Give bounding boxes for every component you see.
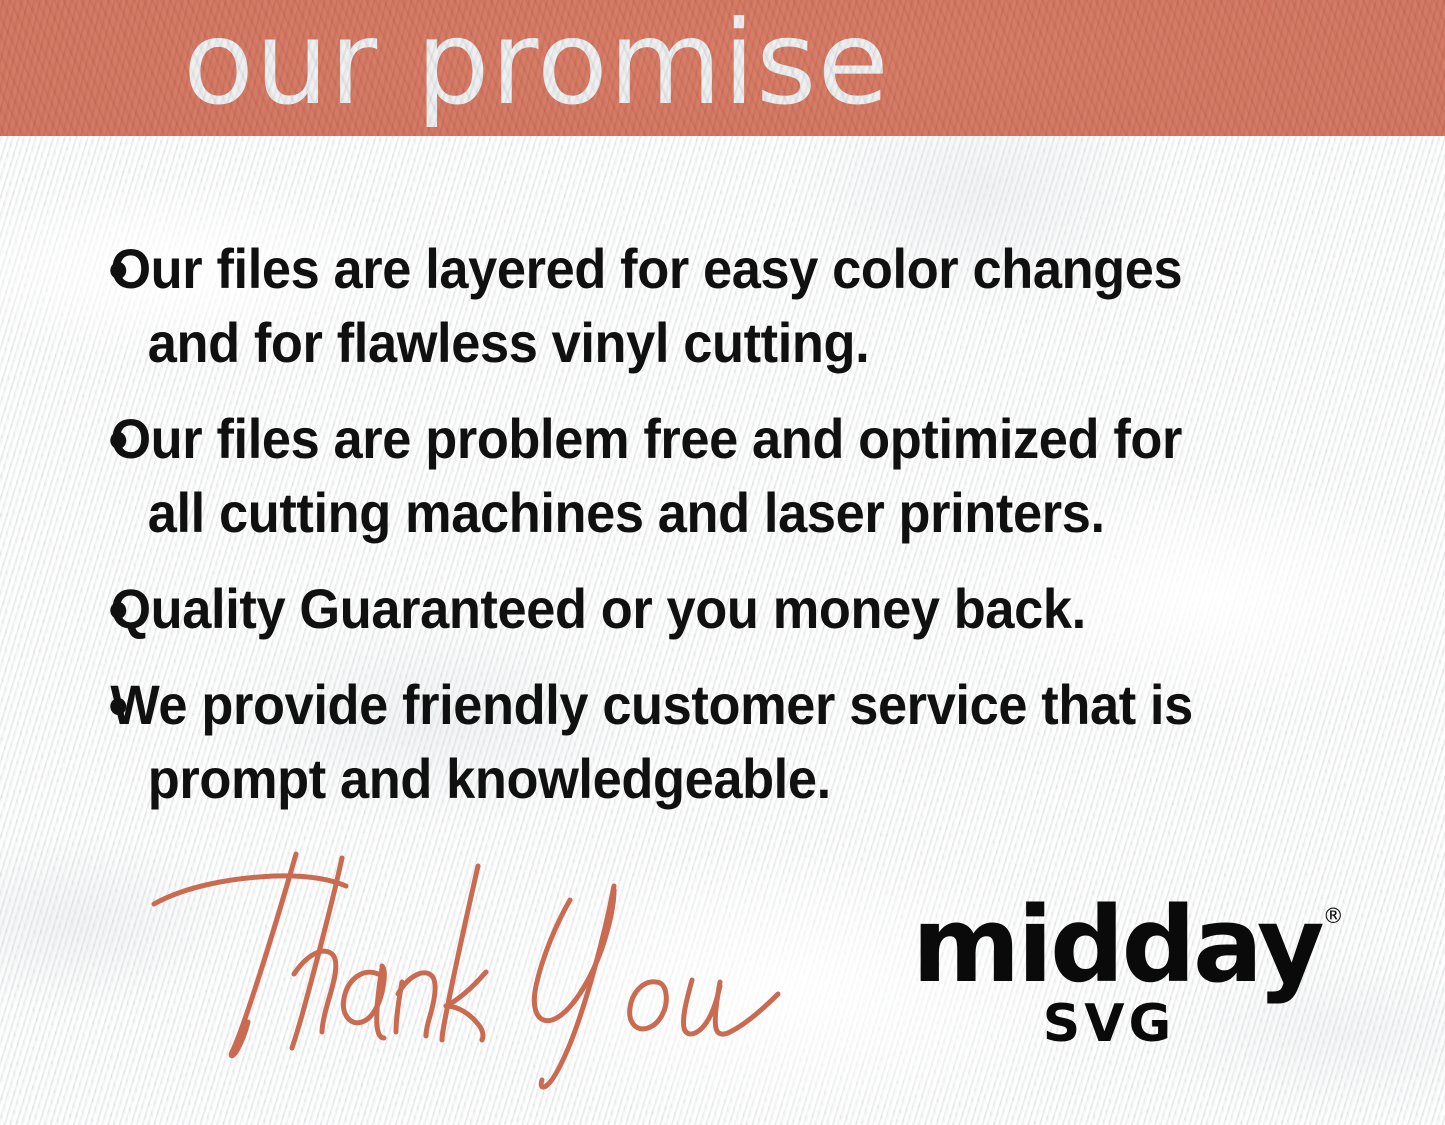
promise-line-text: prompt and knowledgeable.: [148, 747, 831, 810]
promise-line-text: Quality Guaranteed or you money back.: [110, 577, 1085, 640]
bullet-dot-icon: [110, 262, 126, 279]
bullet-dot-icon: [110, 698, 126, 715]
thank-you-signature: [146, 852, 826, 1072]
promise-line-text: Our files are problem free and optimized…: [110, 407, 1182, 470]
promise-line: all cutting machines and laser printers.: [0, 476, 1351, 550]
promise-line-text: and for flawless vinyl cutting.: [148, 311, 870, 374]
page-title: our promise: [183, 0, 890, 132]
brand-wordmark-row: midday ®: [912, 898, 1322, 994]
promise-line: Quality Guaranteed or you money back.: [0, 572, 1351, 646]
list-item: Our files are problem free and optimized…: [0, 402, 1445, 550]
promise-line: We provide friendly customer service tha…: [0, 668, 1351, 742]
promise-line-text: We provide friendly customer service tha…: [110, 673, 1193, 736]
promise-line-text: Our files are layered for easy color cha…: [110, 237, 1182, 300]
header-band: our promise: [0, 0, 1445, 136]
brand-wordmark: midday: [912, 898, 1322, 994]
promise-line: Our files are problem free and optimized…: [0, 402, 1351, 476]
registered-trademark-icon: ®: [1323, 904, 1344, 928]
list-item: We provide friendly customer service tha…: [0, 668, 1445, 816]
list-item: Our files are layered for easy color cha…: [0, 232, 1445, 380]
bullet-dot-icon: [110, 432, 126, 449]
list-item: Quality Guaranteed or you money back.: [0, 572, 1445, 646]
brand-logo: midday ® SVG: [912, 898, 1312, 1050]
promise-line-text: all cutting machines and laser printers.: [148, 481, 1105, 544]
promise-bullet-list: Our files are layered for easy color cha…: [0, 232, 1445, 838]
bullet-dot-icon: [110, 602, 126, 619]
promise-line: prompt and knowledgeable.: [0, 742, 1351, 816]
promise-line: Our files are layered for easy color cha…: [0, 232, 1351, 306]
promise-line: and for flawless vinyl cutting.: [0, 306, 1351, 380]
promise-card: our promise Our files are layered for ea…: [0, 0, 1445, 1125]
